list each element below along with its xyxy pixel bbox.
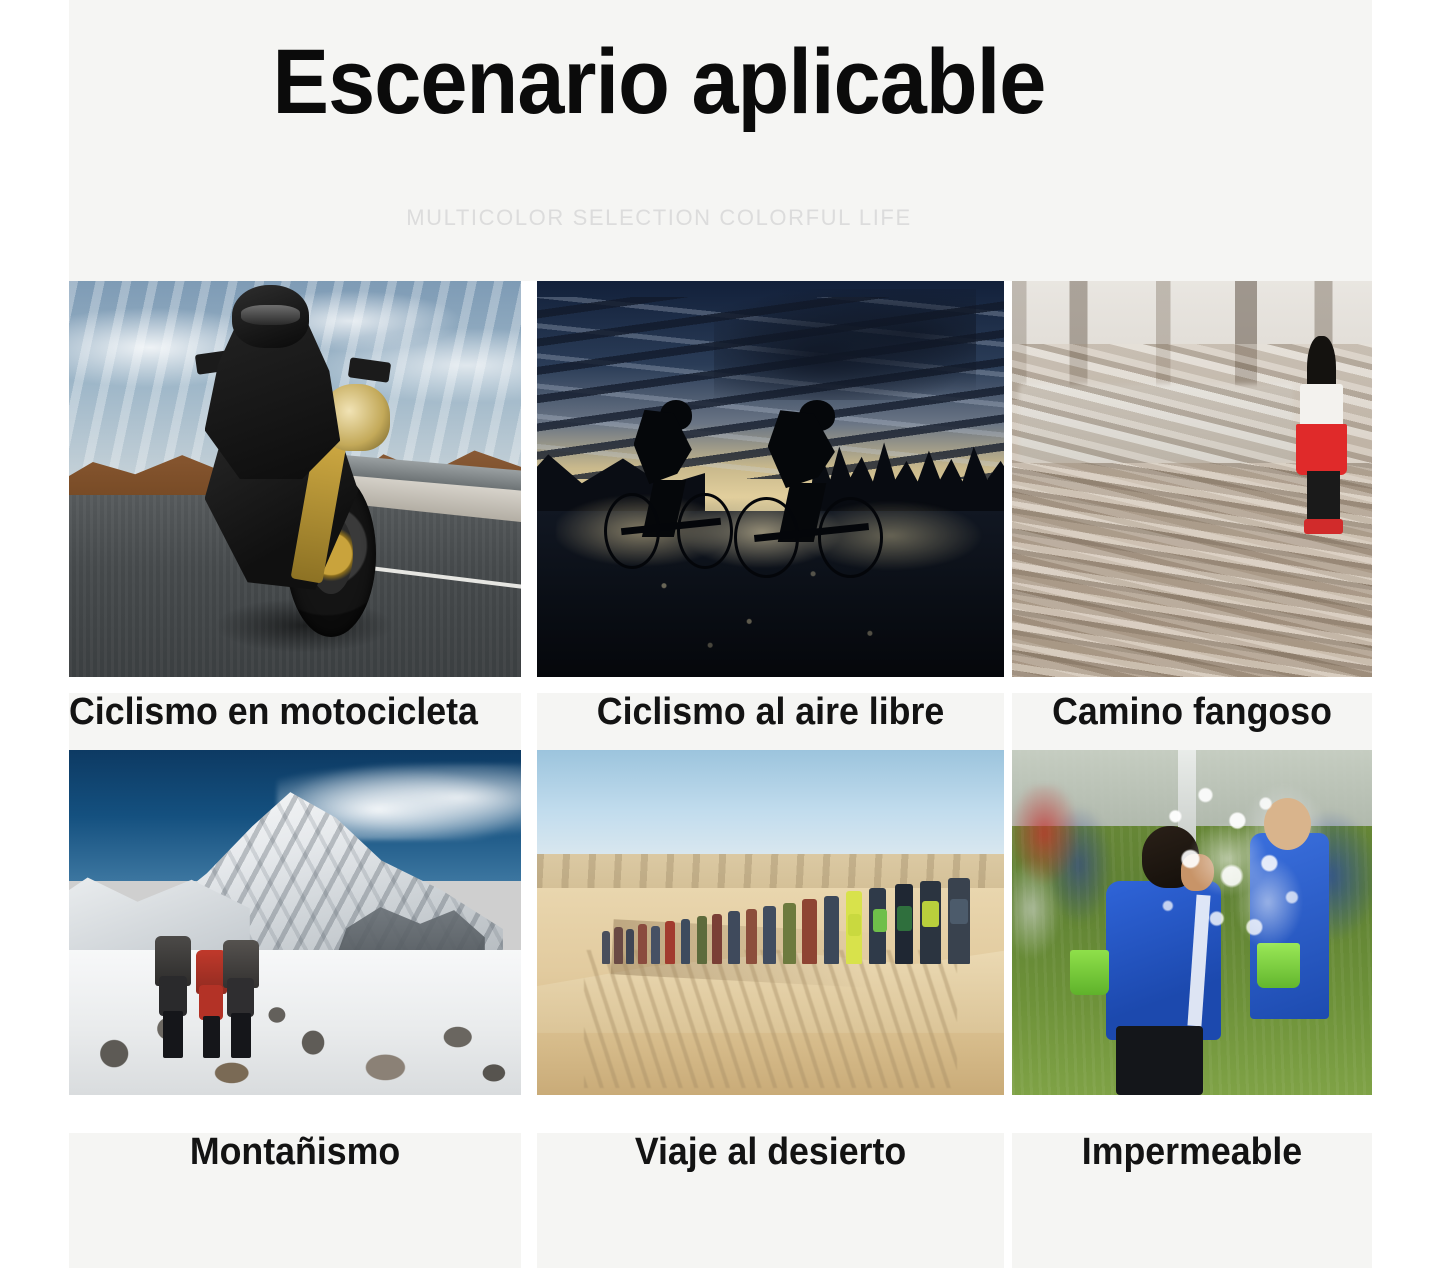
scenario-caption: Ciclismo en motocicleta <box>69 693 494 731</box>
caption-band: Montañismo <box>69 1133 521 1268</box>
scenario-cell-mountaineering[interactable]: Montañismo <box>69 750 521 1230</box>
backpack <box>897 906 913 931</box>
climber-three <box>223 940 259 1054</box>
bicycle-rear-wheel <box>734 497 798 577</box>
scenario-cell-moto-cycling[interactable]: Ciclismo en motocicleta <box>69 281 521 750</box>
scenario-row-1: Ciclismo en motocicleta <box>0 281 1440 750</box>
climber-legs <box>163 1011 183 1058</box>
scenario-grid: Ciclismo en motocicleta <box>0 281 1440 1230</box>
scenario-caption: Ciclismo al aire libre <box>551 693 990 731</box>
child-front-shorts <box>1116 1026 1202 1095</box>
scenario-cell-desert-travel[interactable]: Viaje al desierto <box>537 750 1004 1230</box>
caption-band: Impermeable <box>1012 1133 1372 1268</box>
kids-water-fight-on-grass-photo <box>1012 750 1372 1095</box>
footprints-layer <box>584 950 958 1088</box>
scenario-row-2: Montañismo <box>0 750 1440 1230</box>
page-subtitle: MULTICOLOR SELECTION COLORFUL LIFE <box>69 205 1249 231</box>
scenario-cell-muddy-road[interactable]: Camino fangoso <box>1012 281 1372 750</box>
backpack <box>873 909 887 932</box>
bicycle-rear-wheel <box>604 493 660 570</box>
bicycle-front-wheel <box>677 493 733 570</box>
scenario-caption: Camino fangoso <box>1023 693 1361 731</box>
pale-sky-layer <box>537 750 1004 867</box>
scattered-rocks-layer <box>69 957 521 1095</box>
scenario-cell-waterproof[interactable]: Impermeable <box>1012 750 1372 1230</box>
header-band: Escenario aplicable MULTICOLOR SELECTION… <box>69 0 1372 281</box>
climber-one <box>155 936 191 1053</box>
scenario-caption: Montañismo <box>83 1133 508 1171</box>
scenario-cell-outdoor-cycling[interactable]: Ciclismo al aire libre <box>537 281 1004 750</box>
cyclist-left-silhouette <box>612 400 733 566</box>
climber-body <box>227 978 254 1017</box>
scenario-caption: Viaje al desierto <box>551 1133 990 1171</box>
scenario-caption: Impermeable <box>1023 1133 1361 1171</box>
motorcycle-rider-on-desert-highway-photo <box>69 281 521 677</box>
cyclist-right-silhouette <box>742 400 882 574</box>
hiker-backpacks <box>602 881 994 964</box>
climber-body <box>159 976 186 1016</box>
cyclist-silhouettes-at-dusk-photo <box>537 281 1004 677</box>
caption-band: Viaje al desierto <box>537 1133 1004 1268</box>
applicable-scenario-page: Escenario aplicable MULTICOLOR SELECTION… <box>0 0 1440 1230</box>
bicycle-front-wheel <box>818 497 882 577</box>
page-title: Escenario aplicable <box>116 36 1202 128</box>
backpack <box>922 901 939 927</box>
hikers-crossing-sand-dune-photo <box>537 750 1004 1095</box>
climber-body <box>199 985 223 1020</box>
green-bucket-left <box>1070 950 1110 995</box>
climber-legs <box>231 1013 251 1059</box>
muddy-road-with-tire-ruts-photo <box>1012 281 1372 677</box>
backpack <box>848 914 861 936</box>
water-splash-layer <box>1134 778 1321 992</box>
backpack <box>950 899 968 924</box>
climbers-on-snowy-mountain-photo <box>69 750 521 1095</box>
pedestrian-red-skirt <box>1296 424 1346 475</box>
climber-legs <box>203 1016 221 1057</box>
visor-layer <box>241 305 300 325</box>
cloud-mass-layer <box>714 289 976 400</box>
pedestrian-shoes <box>1304 519 1344 535</box>
